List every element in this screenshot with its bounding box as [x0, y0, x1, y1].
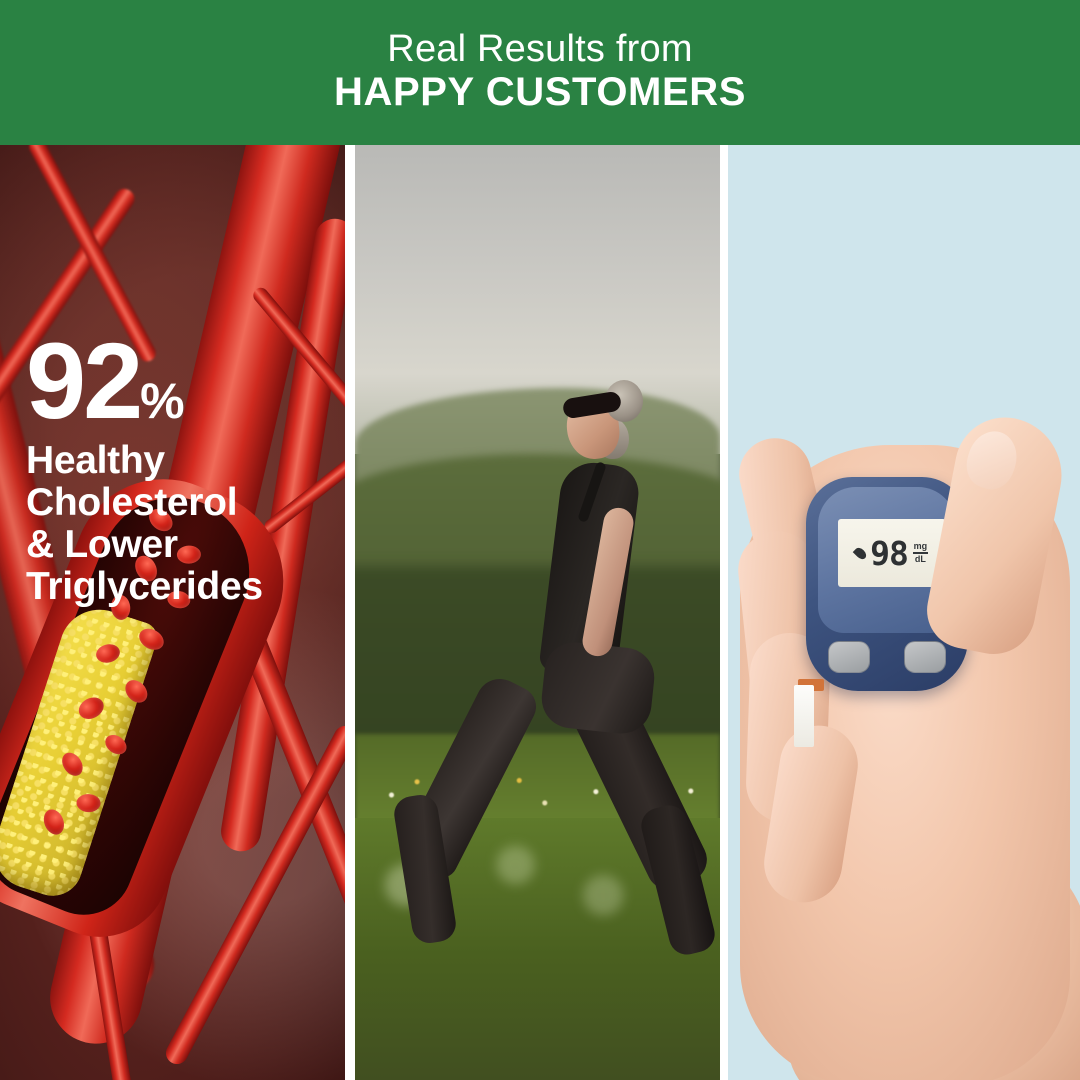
stat-label: Healthy Cholesterol & Lower Triglyceride…: [26, 440, 263, 607]
stat-value-group: 92 %: [26, 331, 263, 430]
meter-right-button[interactable]: [904, 641, 946, 673]
meter-left-button[interactable]: [828, 641, 870, 673]
stat-number: 92: [26, 331, 140, 430]
header-subtitle: Real Results from: [387, 29, 692, 69]
glucose-reading: 98: [870, 534, 908, 573]
header-title: HAPPY CUSTOMERS: [334, 69, 746, 116]
blood-drop-icon: [853, 545, 869, 561]
panels-container: 92 % Healthy Cholesterol & Lower Triglyc…: [0, 145, 1080, 1080]
panel-joint-mobility: 95 % Improved Joint Mobility: [355, 145, 720, 1080]
unit-numerator: mg: [914, 542, 928, 551]
stat-label-line: Triglycerides: [26, 566, 263, 608]
stat-label-line: Cholesterol: [26, 482, 263, 524]
glucose-units: mg dL: [913, 542, 928, 565]
header-banner: Real Results from HAPPY CUSTOMERS: [0, 0, 1080, 145]
woman-stretching-figure: [355, 145, 720, 1080]
field-photo: [355, 145, 720, 1080]
unit-denominator: dL: [915, 555, 926, 564]
panel-blood-sugar: 98 mg dL 84: [728, 145, 1080, 1080]
stat-cholesterol: 92 % Healthy Cholesterol & Lower Triglyc…: [26, 331, 263, 607]
glucose-meter-screen: 98 mg dL: [838, 519, 946, 587]
stat-label-line: Healthy: [26, 440, 263, 482]
blood-sugar-photo: 98 mg dL: [728, 145, 1080, 1080]
stat-percent-sign: %: [140, 378, 183, 424]
testimonial-results-poster: Real Results from HAPPY CUSTOMERS: [0, 0, 1080, 1080]
blood-vessel-illustration: [0, 145, 345, 1080]
test-strip: [794, 685, 814, 747]
stat-label-line: & Lower: [26, 524, 263, 566]
panel-cholesterol: 92 % Healthy Cholesterol & Lower Triglyc…: [0, 145, 345, 1080]
